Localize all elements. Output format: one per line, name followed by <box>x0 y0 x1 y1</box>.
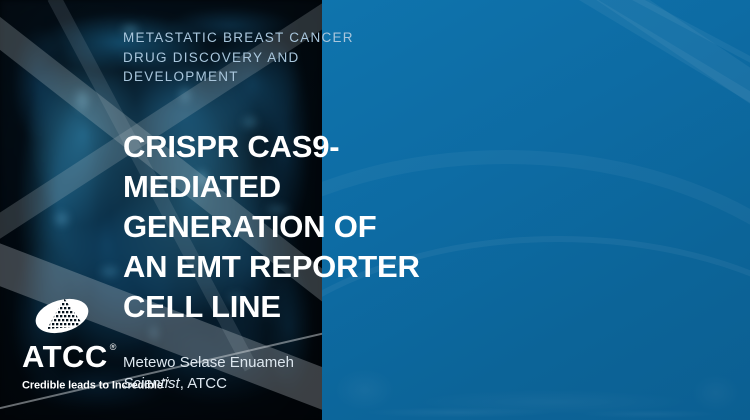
presentation-title-slide: ATCC ® Credible leads to Incredible™ MET… <box>0 0 750 420</box>
light-ray-3 <box>529 0 750 142</box>
presenter-byline: Metewo Selase Enuameh Scientist, ATCC <box>123 352 403 394</box>
presenter-role: Scientist <box>123 375 180 392</box>
slide-eyebrow: METASTATIC BREAST CANCER DRUG DISCOVERY … <box>123 28 383 87</box>
light-ray-1 <box>455 0 750 196</box>
presenter-name: Metewo Selase Enuameh <box>123 352 403 373</box>
registered-trademark-icon: ® <box>110 343 117 352</box>
presenter-role-line: Scientist, ATCC <box>123 373 403 394</box>
atcc-halftone-ellipse-icon <box>34 295 90 337</box>
title-text-block: METASTATIC BREAST CANCER DRUG DISCOVERY … <box>123 0 428 420</box>
light-ray-2 <box>427 0 750 176</box>
slide-title: CRISPR CAS9-MEDIATED GENERATION OF AN EM… <box>123 127 423 327</box>
atcc-wordmark-text: ATCC <box>22 341 108 372</box>
presenter-affiliation: , ATCC <box>180 375 227 392</box>
